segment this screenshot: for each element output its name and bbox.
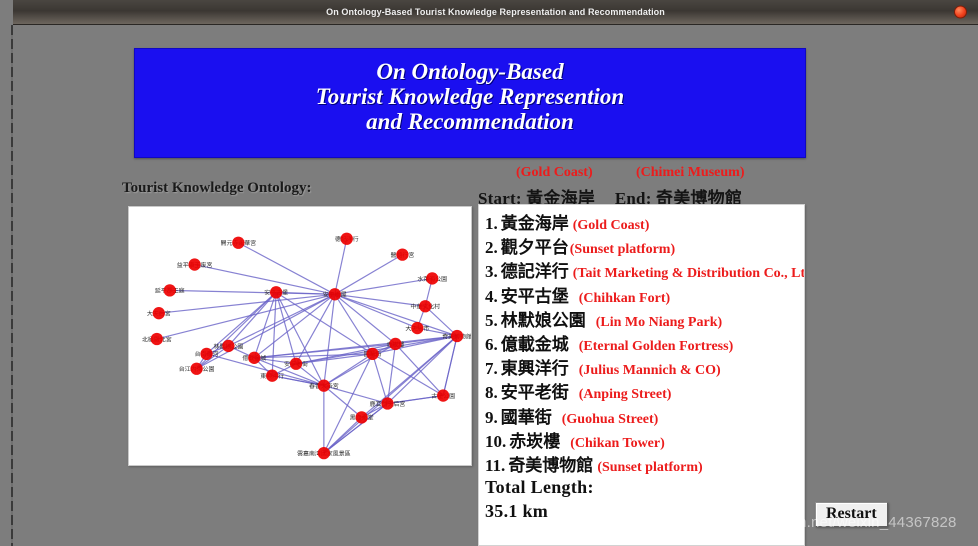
route-item-name-english: (Sunset platform) <box>570 242 675 258</box>
ontology-node-dot[interactable] <box>188 258 200 270</box>
ontology-node-dot[interactable] <box>426 272 438 284</box>
route-list-item[interactable]: 6.億載金城(Eternal Golden Fortress) <box>485 330 804 354</box>
route-item-number: 2. <box>485 238 498 258</box>
ontology-edge <box>324 294 335 385</box>
ontology-node-dot[interactable] <box>151 333 163 345</box>
route-item-number: 6. <box>485 335 498 355</box>
ontology-edge <box>276 292 324 385</box>
route-item-name-english: (Sunset platform) <box>597 460 702 476</box>
ontology-edge <box>159 294 335 313</box>
route-item-name-chinese: 赤崁樓 <box>509 427 560 452</box>
route-list-item[interactable]: 10.赤崁樓(Chikan Tower) <box>485 427 804 451</box>
ontology-node-dot[interactable] <box>451 330 463 342</box>
ontology-edge <box>335 294 457 336</box>
route-item-name-english: (Chikan Tower) <box>570 436 665 452</box>
route-item-name-english: (Chihkan Fort) <box>579 291 670 307</box>
route-list: 1.黃金海岸(Gold Coast)2.觀夕平台(Sunset platform… <box>485 209 804 475</box>
route-item-number: 8. <box>485 383 498 403</box>
route-item-name-chinese: 東興洋行 <box>501 354 569 379</box>
route-list-panel[interactable]: 1.黃金海岸(Gold Coast)2.觀夕平台(Sunset platform… <box>478 204 805 546</box>
ontology-node[interactable]: 延平郡王庭 <box>155 284 185 296</box>
ontology-node[interactable]: 安平老街 <box>284 358 308 370</box>
ontology-graph-panel[interactable]: 開元寺永華宮益平康王废宮延平郡王庭大天后宮北極殿北宮台江内海公園德記洋行醫館行宮… <box>128 206 472 466</box>
restart-button[interactable]: Restart <box>815 502 888 527</box>
route-item-name-english: (Lin Mo Niang Park) <box>596 315 722 331</box>
ontology-node-dot[interactable] <box>248 352 260 364</box>
route-item-number: 3. <box>485 262 498 282</box>
route-header-english: (Gold Coast) (Chimei Museum) <box>478 165 808 184</box>
ontology-node-dot[interactable] <box>318 379 330 391</box>
ontology-edge <box>157 294 335 339</box>
route-list-item[interactable]: 3.德記洋行(Tait Marketing & Distribution Co.… <box>485 257 804 281</box>
route-item-name-english: (Anping Street) <box>579 387 672 403</box>
route-item-number: 11. <box>485 456 505 476</box>
route-list-item[interactable]: 7.東興洋行(Julius Mannich & CO) <box>485 354 804 378</box>
route-item-name-chinese: 奇美博物館 <box>508 451 593 476</box>
route-item-name-chinese: 黃金海岸 <box>501 209 569 234</box>
ontology-edge <box>272 292 276 375</box>
ontology-node-dot[interactable] <box>164 284 176 296</box>
window-titlebar: On Ontology-Based Tourist Knowledge Repr… <box>13 0 978 25</box>
ontology-graph[interactable]: 開元寺永華宮益平康王废宮延平郡王庭大天后宮北極殿北宮台江内海公園德記洋行醫館行宮… <box>129 207 471 465</box>
ontology-node[interactable]: 水萊海公園 <box>417 272 447 284</box>
ontology-node[interactable]: 大天后市 <box>405 322 429 334</box>
route-item-number: 7. <box>485 359 498 379</box>
ontology-node-dot[interactable] <box>411 322 423 334</box>
ontology-node[interactable]: 林默娘公園 <box>214 340 244 352</box>
ontology-node-dot[interactable] <box>329 288 341 300</box>
ontology-node[interactable]: 益平康王废宮 <box>177 258 213 270</box>
route-list-item[interactable]: 9.國華街(Guohua Street) <box>485 403 804 427</box>
route-list-item[interactable]: 11.奇美博物館(Sunset platform) <box>485 451 804 475</box>
total-length-label: Total Length: <box>485 475 804 499</box>
ontology-node[interactable]: 奇美博物館 <box>442 330 471 342</box>
route-item-name-chinese: 林默娘公園 <box>501 306 586 331</box>
ontology-node[interactable]: 雲嘉南湾國家風景區 <box>297 447 351 459</box>
route-header: (Gold Coast) (Chimei Museum) Start: 黃金海岸… <box>478 165 808 209</box>
route-item-name-chinese: 國華街 <box>501 403 552 428</box>
ontology-node[interactable]: 北極殿北宮 <box>142 333 172 345</box>
ontology-edge <box>324 354 373 453</box>
ontology-node-dot[interactable] <box>318 447 330 459</box>
ontology-edge <box>443 336 457 396</box>
window-title: On Ontology-Based Tourist Knowledge Repr… <box>326 7 665 17</box>
ontology-node-dot[interactable] <box>355 411 367 423</box>
ontology-node-dot[interactable] <box>266 370 278 382</box>
end-english-label: (Chimei Museum) <box>636 165 745 181</box>
ontology-node-dot[interactable] <box>290 358 302 370</box>
ontology-node-dot[interactable] <box>419 300 431 312</box>
ontology-node[interactable]: 開元寺永華宮 <box>221 237 257 249</box>
banner-line-1: On Ontology-Based <box>135 59 805 84</box>
ontology-node[interactable]: 鹿耳門天后宮 <box>370 397 406 409</box>
start-english-label: (Gold Coast) <box>516 165 593 181</box>
ontology-node[interactable]: 中華文化村 <box>410 300 440 312</box>
route-list-item[interactable]: 4.安平古堡(Chihkan Fort) <box>485 282 804 306</box>
window-left-edge <box>0 0 13 546</box>
route-item-name-chinese: 安平老街 <box>501 378 569 403</box>
route-item-number: 9. <box>485 408 498 428</box>
ontology-panel-label: Tourist Knowledge Ontology: <box>122 180 311 197</box>
ontology-node-dot[interactable] <box>437 389 449 401</box>
route-item-name-english: (Tait Marketing & Distribution Co., Ltd.… <box>573 266 805 282</box>
route-item-name-english: (Guohua Street) <box>562 412 659 428</box>
title-banner: On Ontology-Based Tourist Knowledge Repr… <box>134 48 806 158</box>
route-item-name-chinese: 觀夕平台 <box>501 233 569 258</box>
ontology-edge <box>335 294 373 354</box>
ontology-node-dot[interactable] <box>381 397 393 409</box>
ontology-node-dot[interactable] <box>153 307 165 319</box>
route-item-number: 5. <box>485 311 498 331</box>
close-icon[interactable] <box>954 6 967 19</box>
ontology-node[interactable]: 赤崁樓 <box>387 338 405 350</box>
ontology-edge <box>425 306 457 336</box>
banner-line-2: Tourist Knowledge Represention <box>135 84 805 109</box>
route-item-number: 1. <box>485 214 498 234</box>
ontology-node-dot[interactable] <box>270 286 282 298</box>
route-list-item[interactable]: 8.安平老街(Anping Street) <box>485 378 804 402</box>
ontology-node-dot[interactable] <box>396 248 408 260</box>
ontology-edge <box>335 294 396 344</box>
route-item-name-english: (Eternal Golden Fortress) <box>579 339 734 355</box>
route-item-name-chinese: 億載金城 <box>501 330 569 355</box>
banner-line-3: and Recommendation <box>135 109 805 134</box>
ontology-node-dot[interactable] <box>222 340 234 352</box>
route-list-item[interactable]: 2.觀夕平台(Sunset platform) <box>485 233 804 257</box>
total-length-value: 35.1 km <box>485 499 804 523</box>
route-item-name-english: (Julius Mannich & CO) <box>579 363 721 379</box>
ontology-node-dot[interactable] <box>232 237 244 249</box>
route-list-item[interactable]: 1.黃金海岸(Gold Coast) <box>485 209 804 233</box>
ontology-edge <box>238 243 334 295</box>
ontology-node-dot[interactable] <box>389 338 401 350</box>
route-item-name-chinese: 安平古堡 <box>501 282 569 307</box>
route-item-number: 4. <box>485 287 498 307</box>
route-item-name-chinese: 德記洋行 <box>501 257 569 282</box>
ontology-node[interactable]: 大天后宮 <box>147 307 171 319</box>
ontology-node[interactable]: 德記洋行 <box>335 233 359 245</box>
route-item-number: 10. <box>485 432 506 452</box>
ontology-node-dot[interactable] <box>366 348 378 360</box>
ontology-edge <box>335 239 347 295</box>
application-window: On Ontology-Based Tourist Knowledge Repr… <box>0 0 978 546</box>
route-item-name-english: (Gold Coast) <box>573 218 650 234</box>
route-list-item[interactable]: 5.林默娘公園(Lin Mo Niang Park) <box>485 306 804 330</box>
ontology-node[interactable]: 醫館行宮 <box>391 248 415 260</box>
ontology-node-dot[interactable] <box>190 363 202 375</box>
ontology-node[interactable]: 安平古堡 <box>264 286 288 298</box>
ontology-edge <box>324 403 388 453</box>
ontology-node-dot[interactable] <box>341 233 353 245</box>
ontology-node[interactable]: 台江内海公園 <box>179 363 215 375</box>
ontology-node-dot[interactable] <box>200 348 212 360</box>
